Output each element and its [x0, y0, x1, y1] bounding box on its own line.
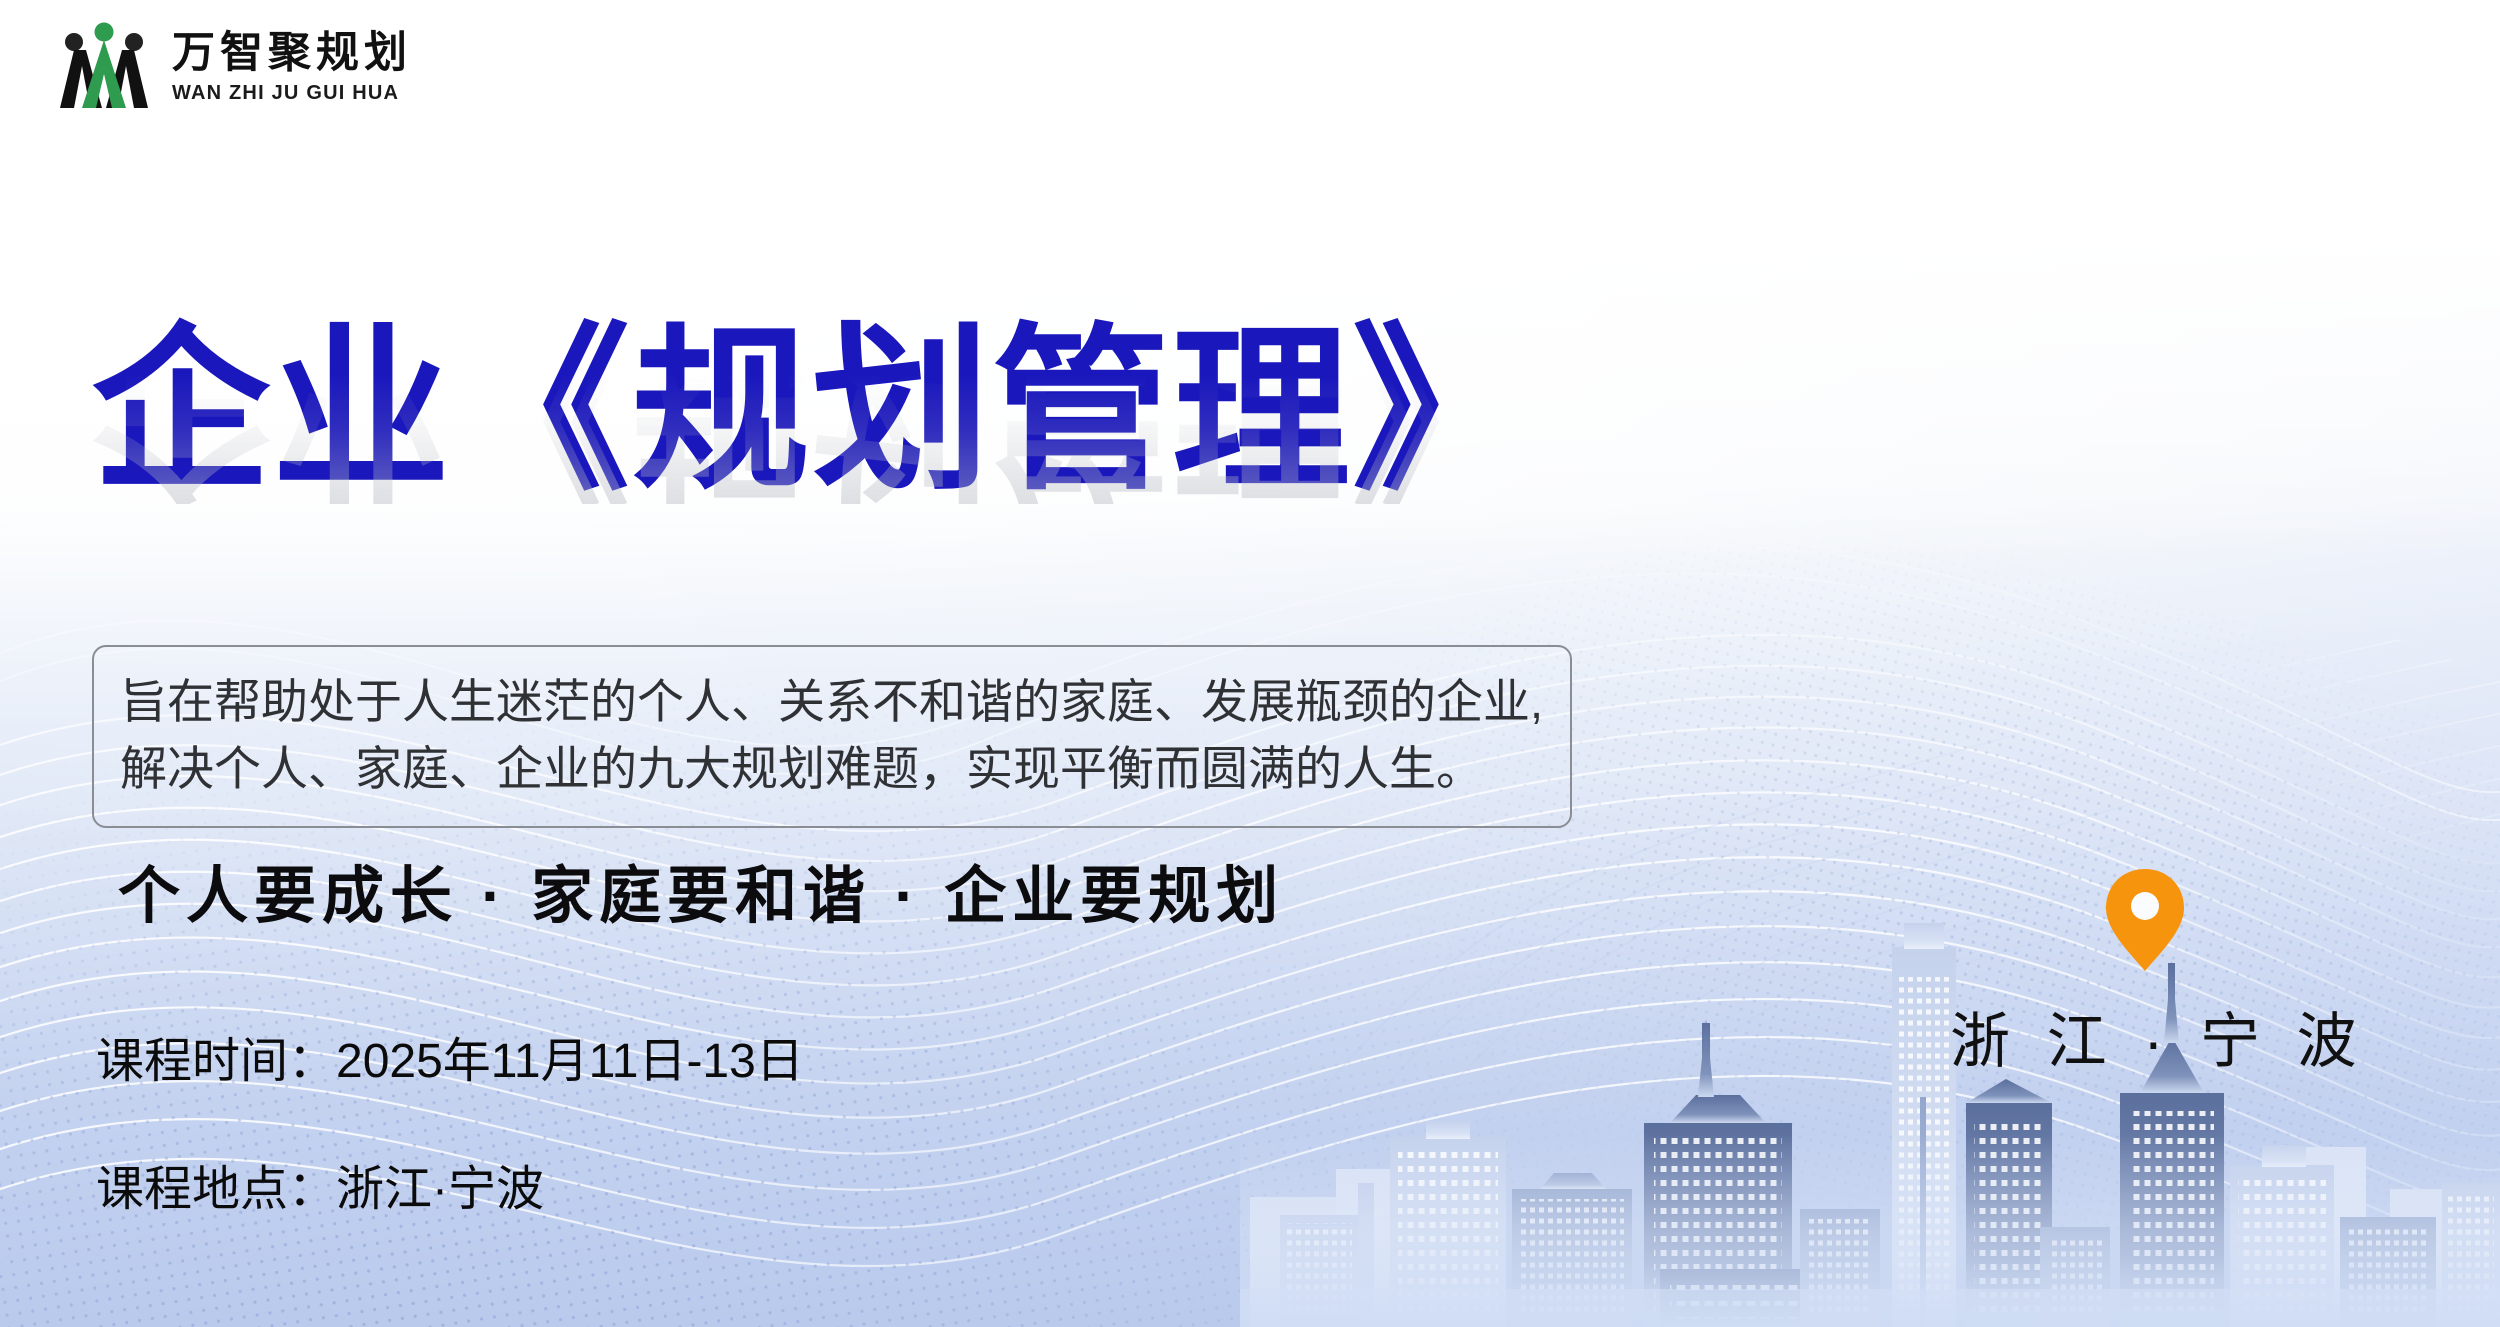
three-people-m-logo-icon [52, 22, 156, 114]
hero-title-block: 企业《规划管理》 企业《规划管理》 [92, 322, 1652, 682]
promo-poster: 万智聚规划 WAN ZHI JU GUI HUA 企业《规划管理》 企业《规划管… [0, 0, 2500, 1327]
brand-logo[interactable]: 万智聚规划 WAN ZHI JU GUI HUA [52, 22, 412, 114]
location-name: 浙 江 · 宁 波 [1950, 993, 2340, 1080]
location-badge: 浙 江 · 宁 波 [1950, 865, 2340, 1080]
map-pin-icon [2102, 865, 2188, 975]
course-place: 课程地点：浙江·宁波 [96, 1149, 804, 1219]
description-box: 旨在帮助处于人生迷茫的个人、关系不和谐的家庭、发展瓶颈的企业, 解决个人、家庭、… [92, 645, 1572, 828]
course-info: 课程时间：2025年11月11日-13日 课程地点：浙江·宁波 [96, 1021, 804, 1219]
description-line-2: 解决个人、家庭、企业的九大规划难题，实现平衡而圆满的人生。 [120, 736, 1544, 803]
page-title-reflection: 企业《规划管理》 [92, 326, 1652, 504]
description-line-1: 旨在帮助处于人生迷茫的个人、关系不和谐的家庭、发展瓶颈的企业, [120, 669, 1544, 736]
slogan-text: 个人要成长 · 家庭要和谐 · 企业要规划 [118, 845, 1284, 935]
brand-name-cn: 万智聚规划 [172, 31, 412, 76]
brand-name-en: WAN ZHI JU GUI HUA [172, 82, 412, 105]
course-time: 课程时间：2025年11月11日-13日 [96, 1021, 804, 1091]
